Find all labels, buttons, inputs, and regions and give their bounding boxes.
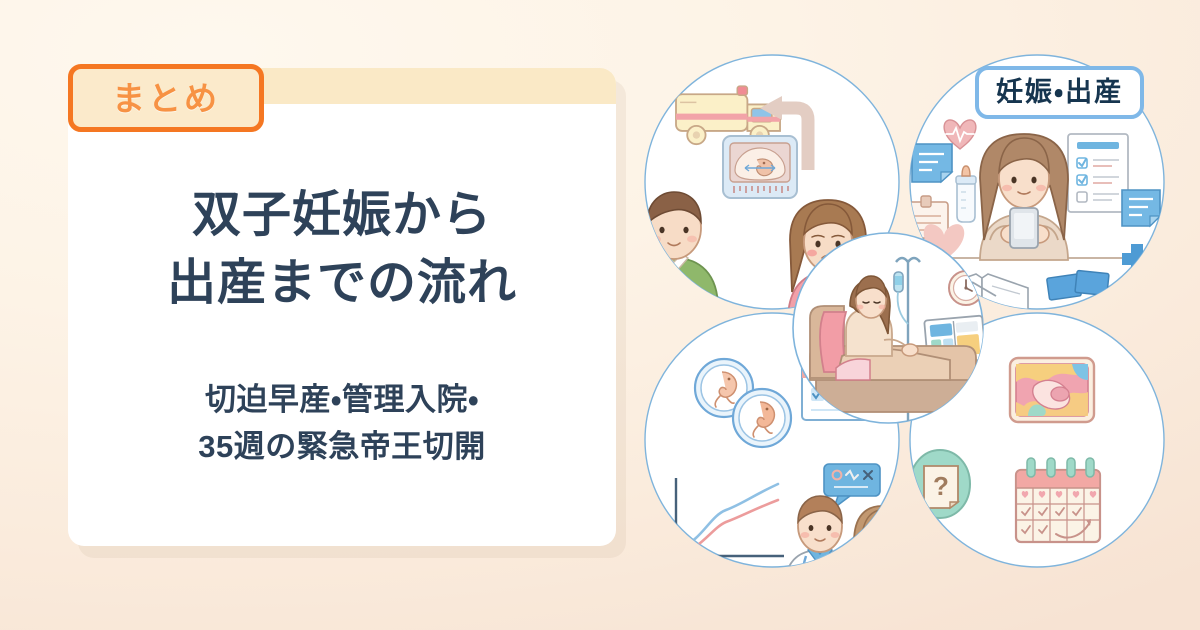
sticky-note-icon — [912, 144, 952, 182]
page-title: 双子妊娠から 出産までの流れ — [167, 182, 517, 317]
category-badge-label: 妊娠・出産 — [996, 79, 1123, 106]
sticky-note-icon — [1122, 190, 1160, 226]
page-subtitle: 切迫早産・管理入院・ 35週の緊急帝王切開 — [198, 377, 485, 470]
card-content: 双子妊娠から 出産までの流れ 切迫早産・管理入院・ 35週の緊急帝王切開 — [68, 104, 616, 546]
ultrasound-monitor-icon — [723, 136, 797, 198]
svg-text:?: ? — [933, 471, 949, 501]
patient-figure — [848, 506, 916, 594]
summary-card: 双子妊娠から 出産までの流れ 切迫早産・管理入院・ 35週の緊急帝王切開 — [68, 68, 616, 546]
heart-calendar-icon — [1016, 458, 1100, 542]
woman-with-smartphone — [980, 134, 1068, 260]
summary-badge: まとめ — [68, 64, 264, 132]
twin-fetus-icon — [733, 389, 791, 447]
color-ultrasound-icon — [1010, 358, 1094, 422]
og-image-canvas: 双子妊娠から 出産までの流れ 切迫早産・管理入院・ 35週の緊急帝王切開 まとめ — [0, 0, 1200, 630]
checklist-icon — [1068, 134, 1128, 212]
summary-badge-label: まとめ — [112, 82, 220, 115]
category-badge: 妊娠・出産 — [975, 66, 1144, 119]
